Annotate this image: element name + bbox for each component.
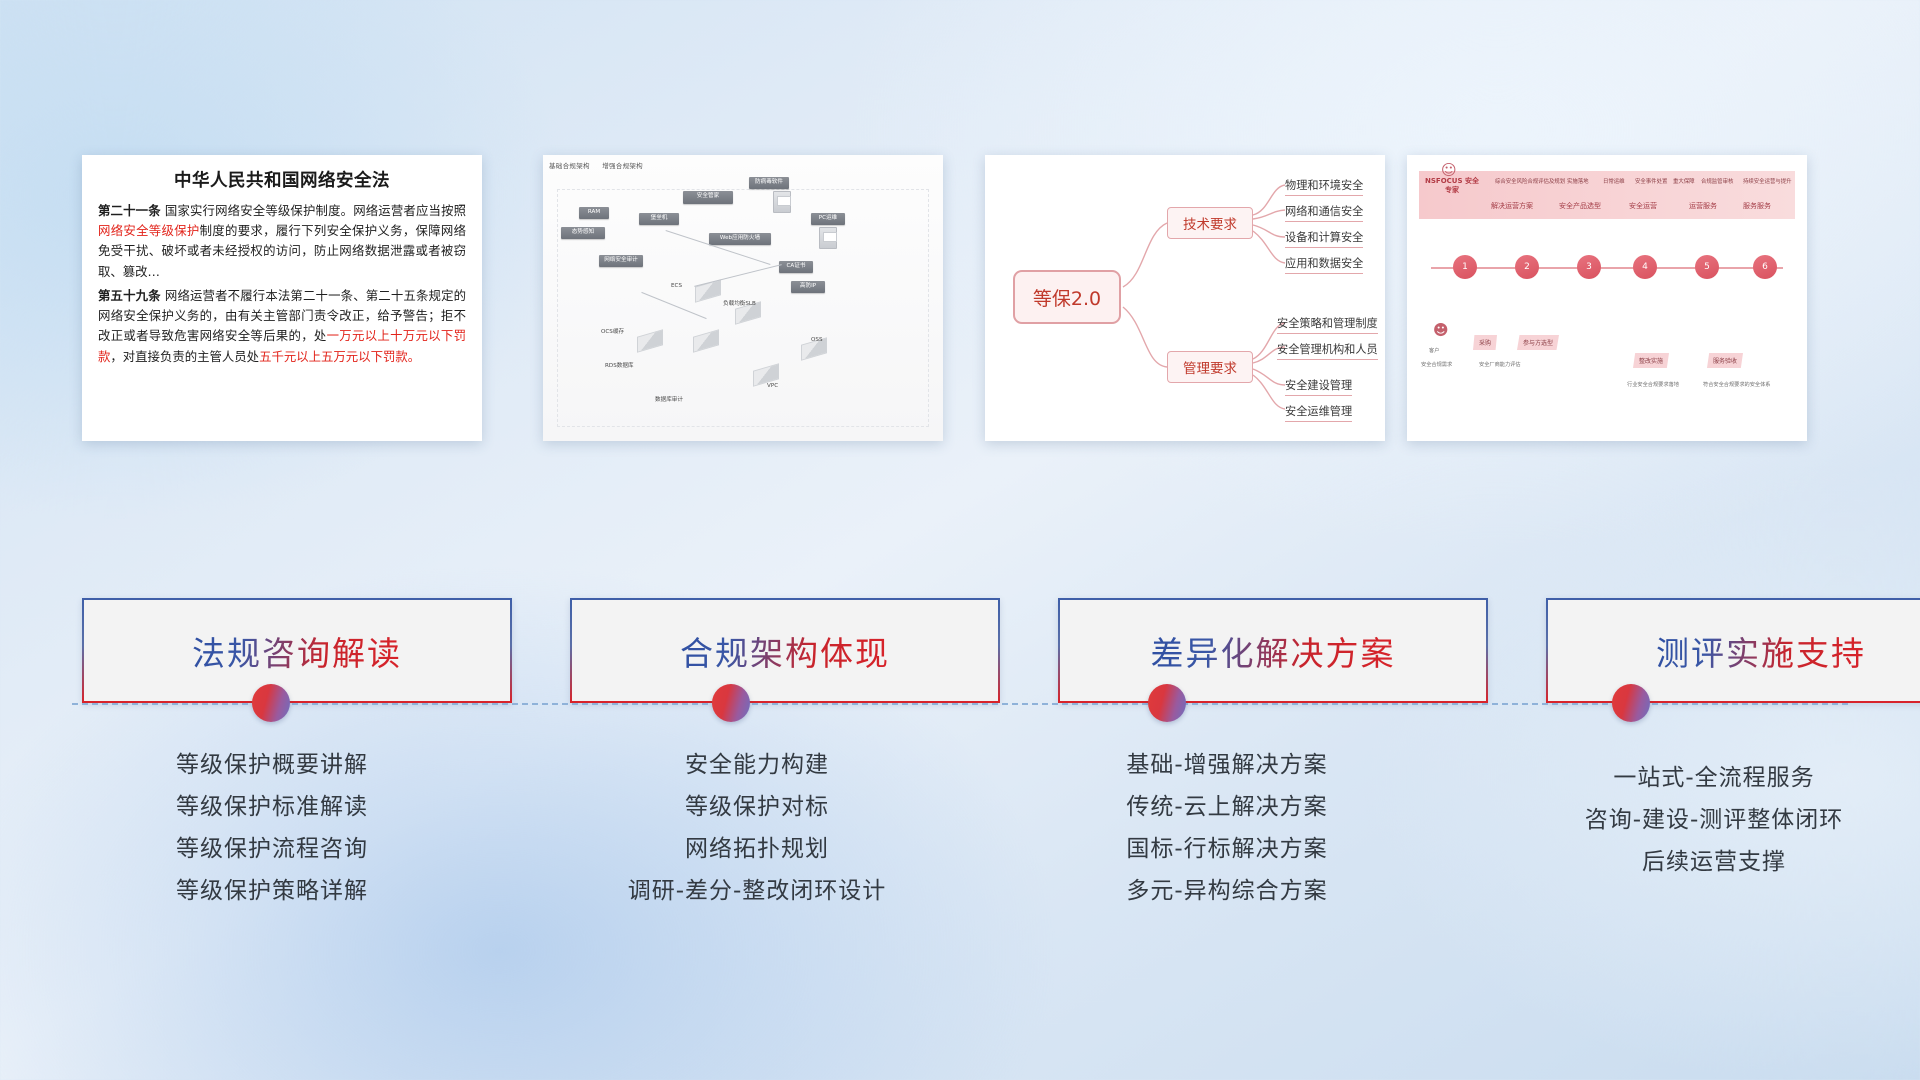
law-text-seg: 国家实行网络安全等级保护制度。网络运营者应当按照 [165, 203, 466, 218]
mindmap-leaf: 安全运维管理 [1285, 403, 1352, 422]
roadmap-bottom-label: 安全合规需求 [1421, 361, 1452, 368]
list-item: 等级保护标准解读 [47, 787, 497, 829]
architecture-canvas: 基础合规架构 增强合规架构 安全管家 堡垒机 RAM 态势感知 网络安全审计 防… [543, 155, 943, 441]
list-item: 调研-差分-整改闭环设计 [532, 871, 982, 913]
law-paragraph-1: 第二十一条 国家实行网络安全等级保护制度。网络运营者应当按照网络安全等级保护制度… [98, 201, 466, 282]
roadmap-stage-label: 安全运营 [1629, 201, 1657, 211]
list-item: 等级保护概要讲解 [47, 745, 497, 787]
law-text-seg: ，对直接负责的主管人员处 [110, 349, 259, 364]
roadmap-band-label: 日常运维 [1603, 177, 1625, 185]
section-items-3: 基础-增强解决方案 传统-云上解决方案 国标-行标解决方案 多元-异构综合方案 [1002, 745, 1452, 912]
mindmap-leaf: 设备和计算安全 [1285, 229, 1363, 248]
law-document: 中华人民共和国网络安全法 第二十一条 国家实行网络安全等级保护制度。网络运营者应… [82, 155, 482, 377]
section-heading-label: 合规架构体现 [680, 627, 890, 675]
roadmap-band-label: 安全事件处置 [1635, 177, 1667, 185]
section-heading-3[interactable]: 差异化解决方案 [1058, 598, 1488, 703]
arch-box-antiddos: 高防IP [791, 281, 825, 293]
arch-box-security-manager: 安全管家 [683, 191, 733, 204]
law-article-label-2: 第五十九条 [98, 288, 161, 303]
section-items-1: 等级保护概要讲解 等级保护标准解读 等级保护流程咨询 等级保护策略详解 [47, 745, 497, 912]
roadmap-band-label: 持续安全运营与提升 [1743, 177, 1792, 185]
roadmap-tag: 采购 [1473, 335, 1497, 350]
roadmap-logo: NSFOCUS 安全专家 [1425, 177, 1479, 196]
roadmap-node: 6 [1753, 255, 1777, 279]
customer-icon: ☻ [1433, 321, 1449, 339]
roadmap-band-label: 重大保障 [1673, 177, 1695, 185]
list-item: 基础-增强解决方案 [1002, 745, 1452, 787]
law-article-label-1: 第二十一条 [98, 203, 161, 218]
arch-box-netaudit: 网络安全审计 [599, 255, 643, 267]
arch-box-waf: Web应用防火墙 [709, 233, 771, 245]
arch-header-enhanced: 增强合规架构 [602, 162, 643, 170]
list-item: 等级保护策略详解 [47, 871, 497, 913]
roadmap-stage-label: 安全产品选型 [1559, 201, 1601, 211]
list-item: 一站式-全流程服务 [1489, 758, 1920, 800]
roadmap-tag: 服务验收 [1707, 353, 1743, 368]
roadmap-tag: 整改实施 [1633, 353, 1669, 368]
roadmap-canvas: NSFOCUS 安全专家 ☺ 综合安全风险合规评估及规划 实施落地 日常运维 安… [1407, 155, 1807, 441]
arch-label-ocs: OCS缓存 [601, 327, 624, 335]
roadmap-bottom-label: 安全厂商能力评估 [1479, 361, 1521, 368]
card-mindmap: 等保2.0 技术要求 管理要求 物理和环境安全 网络和通信安全 设备和计算安全 … [985, 155, 1385, 441]
roadmap-node: 4 [1633, 255, 1657, 279]
list-item: 等级保护流程咨询 [47, 829, 497, 871]
arch-box-ram: RAM [579, 207, 609, 219]
section-heading-label: 测评实施支持 [1656, 627, 1866, 675]
list-item: 多元-异构综合方案 [1002, 871, 1452, 913]
law-title: 中华人民共和国网络安全法 [98, 167, 466, 192]
arch-box-bastion: 堡垒机 [639, 213, 679, 225]
mindmap-leaf: 物理和环境安全 [1285, 177, 1363, 196]
law-text-seg-red: 网络安全等级保护 [98, 223, 200, 238]
slide-canvas: 中华人民共和国网络安全法 第二十一条 国家实行网络安全等级保护制度。网络运营者应… [0, 0, 1920, 1080]
timeline-dashed-line [72, 703, 1848, 705]
roadmap-bottom-label: 行业安全合规要求落地 [1627, 381, 1679, 388]
arch-box-ca: CA证书 [779, 261, 813, 273]
card-architecture-diagram: 基础合规架构 增强合规架构 安全管家 堡垒机 RAM 态势感知 网络安全审计 防… [543, 155, 943, 441]
arch-label-vpc: VPC [767, 383, 778, 389]
list-item: 咨询-建设-测评整体闭环 [1489, 800, 1920, 842]
roadmap-node: 2 [1515, 255, 1539, 279]
list-item: 国标-行标解决方案 [1002, 829, 1452, 871]
timeline-dot-4[interactable] [1612, 684, 1650, 722]
mindmap-root: 等保2.0 [1013, 270, 1121, 324]
list-item: 后续运营支撑 [1489, 842, 1920, 884]
roadmap-bottom-label: 符合安全合规要求的安全体系 [1703, 381, 1770, 388]
roadmap-node: 1 [1453, 255, 1477, 279]
arch-server-icon-2 [819, 227, 837, 249]
mindmap-branch-mgmt: 管理要求 [1167, 351, 1253, 383]
roadmap-stage-label: 解决运营方案 [1491, 201, 1533, 211]
law-text-seg-red: 五千元以上五万元以下罚款。 [259, 349, 420, 364]
arch-box-antivirus: 防病毒软件 [749, 177, 789, 189]
law-paragraph-2: 第五十九条 网络运营者不履行本法第二十一条、第二十五条规定的网络安全保护义务的，… [98, 286, 466, 367]
list-item: 等级保护对标 [532, 787, 982, 829]
arch-box-situational: 态势感知 [561, 227, 605, 239]
timeline-dot-2[interactable] [712, 684, 750, 722]
mindmap-leaf: 安全管理机构和人员 [1277, 341, 1378, 360]
roadmap-tag: 参与方选型 [1517, 335, 1559, 350]
arch-label-rds: RDS数据库 [605, 361, 634, 369]
roadmap-node: 5 [1695, 255, 1719, 279]
roadmap-band-label: 实施落地 [1567, 177, 1589, 185]
arch-server-icon-1 [773, 191, 791, 213]
arch-header-basic: 基础合规架构 [549, 162, 590, 170]
expert-icon: ☺ [1441, 161, 1457, 179]
card-roadmap: NSFOCUS 安全专家 ☺ 综合安全风险合规评估及规划 实施落地 日常运维 安… [1407, 155, 1807, 441]
roadmap-stage-label: 运营服务 [1689, 201, 1717, 211]
mindmap-leaf: 应用和数据安全 [1285, 255, 1363, 274]
section-heading-4[interactable]: 测评实施支持 [1546, 598, 1920, 703]
section-items-2: 安全能力构建 等级保护对标 网络拓扑规划 调研-差分-整改闭环设计 [532, 745, 982, 912]
mindmap-leaf: 安全策略和管理制度 [1277, 315, 1378, 334]
card-law-text: 中华人民共和国网络安全法 第二十一条 国家实行网络安全等级保护制度。网络运营者应… [82, 155, 482, 441]
architecture-header: 基础合规架构 增强合规架构 [549, 160, 653, 170]
mindmap-branch-tech: 技术要求 [1167, 207, 1253, 239]
timeline-dot-3[interactable] [1148, 684, 1186, 722]
roadmap-band-label: 综合安全风险合规评估及规划 [1495, 177, 1565, 185]
arch-label-slb: 负载均衡SLB [723, 299, 756, 307]
section-heading-2[interactable]: 合规架构体现 [570, 598, 1000, 703]
list-item: 网络拓扑规划 [532, 829, 982, 871]
section-heading-label: 法规咨询解读 [192, 627, 402, 675]
section-heading-1[interactable]: 法规咨询解读 [82, 598, 512, 703]
mindmap-canvas: 等保2.0 技术要求 管理要求 物理和环境安全 网络和通信安全 设备和计算安全 … [985, 155, 1385, 441]
section-heading-label: 差异化解决方案 [1151, 627, 1396, 675]
arch-label-dbaudit: 数据库审计 [655, 395, 683, 403]
arch-box-pc-ops: PC运维 [811, 213, 845, 225]
roadmap-node: 3 [1577, 255, 1601, 279]
roadmap-axis [1431, 267, 1783, 269]
roadmap-stage-label: 服务服务 [1743, 201, 1771, 211]
arch-label-ecs: ECS [671, 283, 682, 289]
mindmap-leaf: 网络和通信安全 [1285, 203, 1363, 222]
list-item: 传统-云上解决方案 [1002, 787, 1452, 829]
roadmap-bottom-label: 客户 [1429, 347, 1439, 354]
mindmap-leaf: 安全建设管理 [1285, 377, 1352, 396]
roadmap-band-label: 合规监管审核 [1701, 177, 1733, 185]
list-item: 安全能力构建 [532, 745, 982, 787]
section-items-4: 一站式-全流程服务 咨询-建设-测评整体闭环 后续运营支撑 [1489, 758, 1920, 884]
arch-label-oss: OSS [811, 337, 823, 343]
timeline-dot-1[interactable] [252, 684, 290, 722]
